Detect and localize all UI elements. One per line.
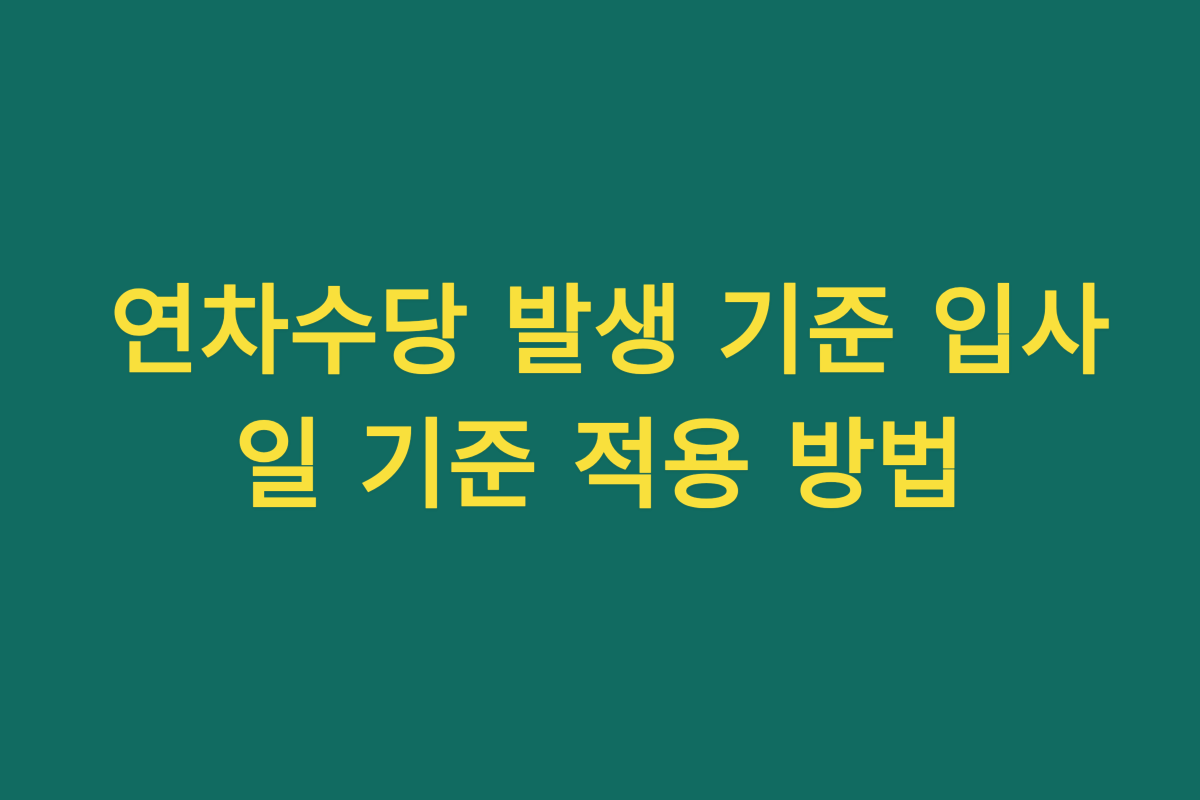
headline-line-1: 연차수당 발생 기준 입사 <box>110 265 1090 399</box>
banner-headline: 연차수당 발생 기준 입사 일 기준 적용 방법 <box>110 265 1090 533</box>
headline-block: 연차수당 발생 기준 입사 일 기준 적용 방법 <box>70 265 1130 533</box>
headline-line-2: 일 기준 적용 방법 <box>110 399 1090 533</box>
text-banner: 연차수당 발생 기준 입사 일 기준 적용 방법 <box>0 0 1200 800</box>
